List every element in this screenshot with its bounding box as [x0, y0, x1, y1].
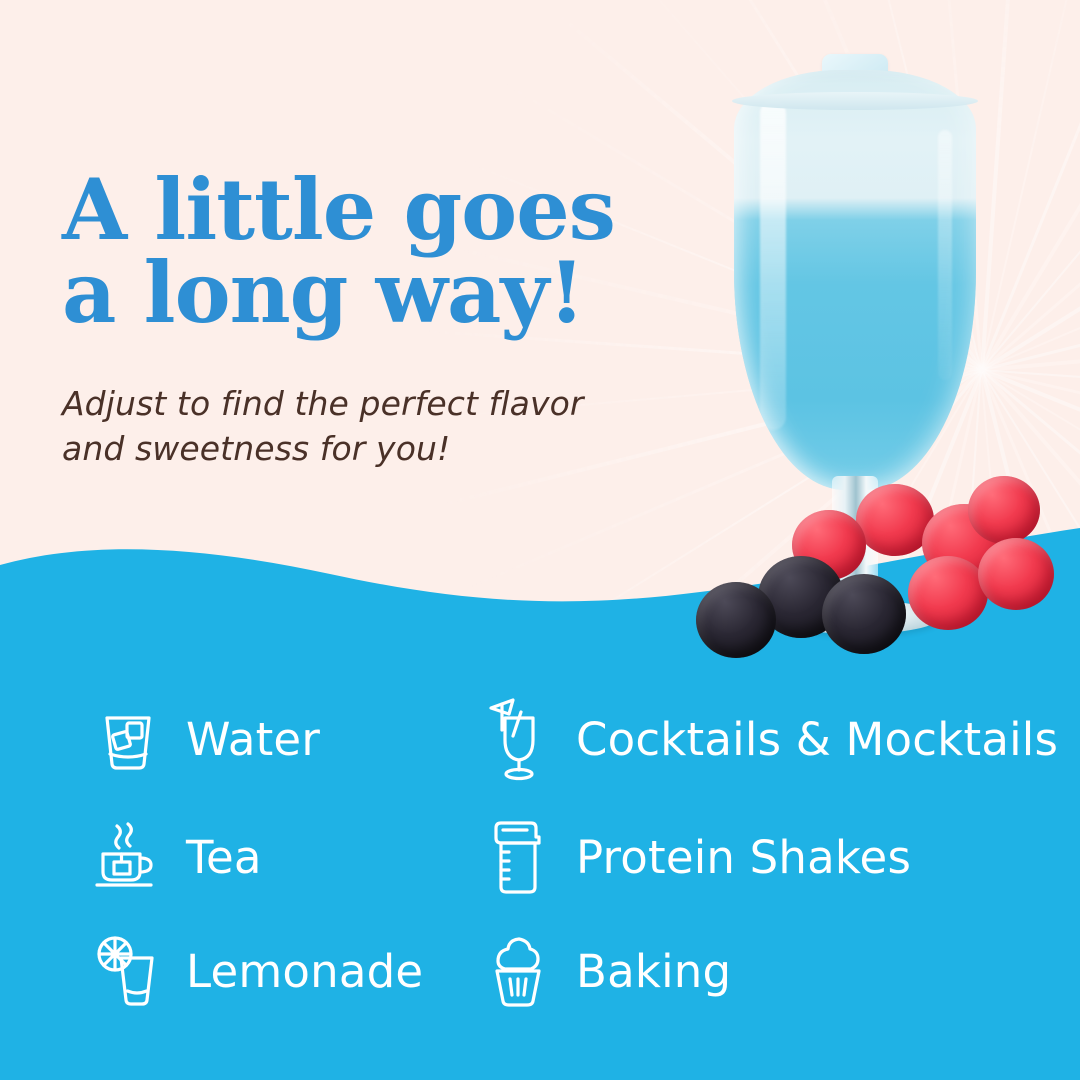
subtitle: Adjust to find the perfect flavor and sw… [62, 382, 662, 471]
list-item-baking: Baking [482, 932, 731, 1010]
shaker-bottle-icon [482, 818, 554, 896]
raspberry [968, 476, 1040, 544]
teacup-with-steam-icon [92, 818, 164, 896]
list-item-protein-shakes: Protein Shakes [482, 818, 911, 896]
list-item-label: Protein Shakes [576, 831, 911, 884]
list-item-cocktails: Cocktails & Mocktails [482, 700, 1058, 778]
list-item-label: Lemonade [186, 945, 423, 998]
raspberry [908, 556, 988, 630]
glass-with-lemon-slice-icon [92, 932, 164, 1010]
list-item-label: Baking [576, 945, 731, 998]
list-item-tea: Tea [92, 818, 262, 896]
list-item-label: Cocktails & Mocktails [576, 713, 1058, 766]
glass-rim [732, 92, 978, 110]
headline-line-2: a long way! [62, 251, 702, 334]
blackberry [696, 582, 776, 658]
raspberry [978, 538, 1054, 610]
subtitle-line-2: and sweetness for you! [62, 427, 662, 472]
blackberry [822, 574, 906, 654]
glass-bowl [734, 70, 976, 490]
list-item-lemonade: Lemonade [92, 932, 423, 1010]
page-title: A little goes a long way! [62, 168, 702, 334]
list-item-label: Tea [186, 831, 262, 884]
promo-poster: A little goes a long way! Adjust to find… [0, 0, 1080, 1080]
list-item-water: Water [92, 700, 320, 778]
cocktail-glass-with-umbrella-icon [482, 700, 554, 778]
cupcake-icon [482, 932, 554, 1010]
product-drink-photo [672, 52, 1038, 672]
list-item-label: Water [186, 713, 320, 766]
use-cases-list: Water Tea [0, 678, 1080, 1058]
subtitle-line-1: Adjust to find the perfect flavor [62, 384, 584, 423]
glass-of-water-with-ice-icon [92, 700, 164, 778]
